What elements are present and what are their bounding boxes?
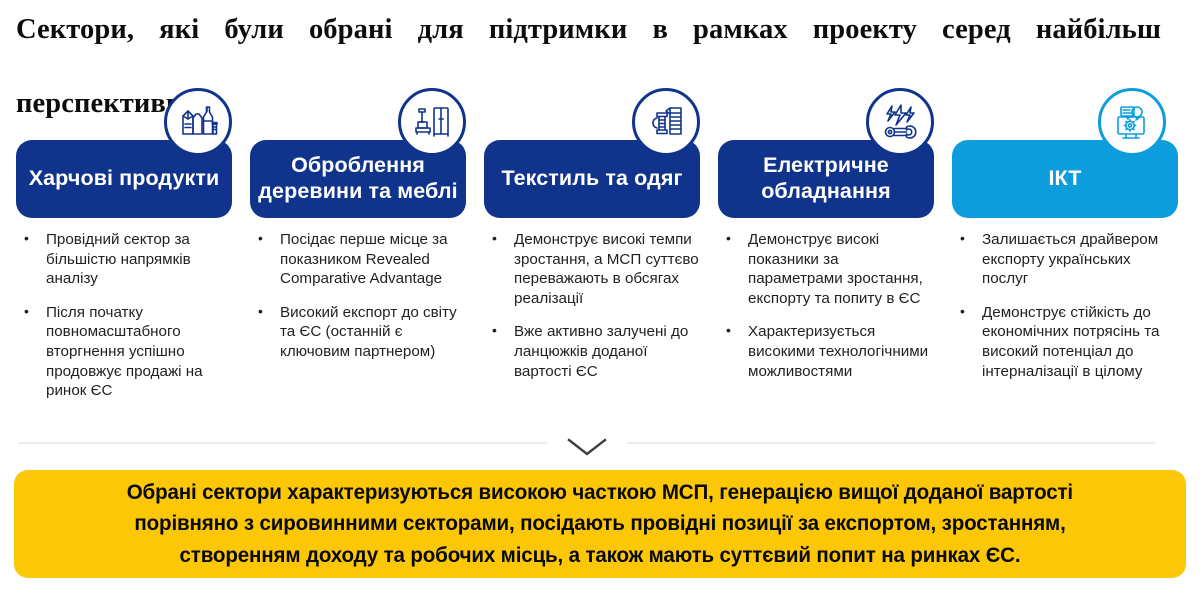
list-item: Демонструє високі темпи зростання, а МСП…: [484, 230, 700, 308]
food-products-icon: [164, 88, 232, 156]
sector-bullets-textile: Демонструє високі темпи зростання, а МСП…: [484, 230, 700, 381]
sector-column-electrical: Електричне обладнання Демонструє високі …: [718, 88, 934, 395]
sector-card-title: ІКТ: [1048, 166, 1081, 192]
list-item: Вже активно залучені до ланцюжків додано…: [484, 322, 700, 381]
list-item: Посідає перше місце за показником Reveal…: [250, 230, 466, 289]
list-item: Характеризується високими технологічними…: [718, 322, 934, 381]
summary-banner-line-3: створенням доходу та робочих місць, а та…: [180, 540, 1021, 571]
sector-bullets-food: Провідний сектор за більшістю напрямків …: [16, 230, 232, 401]
summary-banner-line-1: Обрані сектори характеризуються високою …: [127, 477, 1073, 508]
list-item: Залишається драйвером експорту українськ…: [952, 230, 1178, 289]
summary-banner: Обрані сектори характеризуються високою …: [14, 470, 1186, 578]
wood-furniture-icon: [398, 88, 466, 156]
sector-column-textile: Текстиль та одяг Демонструє високі темпи…: [484, 88, 700, 395]
sector-card-title: Текстиль та одяг: [501, 166, 682, 192]
section-divider: [18, 436, 1155, 458]
sector-column-food: Харчові продукти Провідний сектор за біл…: [16, 88, 232, 415]
sector-column-wood: Оброблення деревини та меблі Посідає пер…: [250, 88, 466, 376]
ict-computer-icon: [1098, 88, 1166, 156]
chevron-down-icon: [547, 436, 627, 458]
list-item: Демонструє стійкість до економічних потр…: [952, 303, 1178, 381]
sector-bullets-electrical: Демонструє високі показники за параметра…: [718, 230, 934, 381]
list-item: Провідний сектор за більшістю напрямків …: [16, 230, 232, 289]
list-item: Високий експорт до світу та ЄС (останній…: [250, 303, 466, 362]
electrical-equipment-icon: [866, 88, 934, 156]
page-title-line-1: Сектори, які були обрані для підтримки в…: [16, 12, 1161, 86]
sector-column-ict: ІКТ Залишається драйвером експорту украї…: [952, 88, 1178, 395]
sector-bullets-wood: Посідає перше місце за показником Reveal…: [250, 230, 466, 362]
sector-card-title: Оброблення деревини та меблі: [258, 153, 458, 205]
list-item: Демонструє високі показники за параметра…: [718, 230, 934, 308]
list-item: Після початку повномасштабного вторгненн…: [16, 303, 232, 401]
sector-card-title: Харчові продукти: [29, 166, 220, 192]
sector-card-title: Електричне обладнання: [726, 153, 926, 205]
textile-spool-icon: [632, 88, 700, 156]
sector-bullets-ict: Залишається драйвером експорту українськ…: [952, 230, 1178, 381]
sector-columns: Харчові продукти Провідний сектор за біл…: [16, 88, 1156, 428]
summary-banner-line-2: порівняно з сировинними секторами, посід…: [134, 508, 1065, 539]
